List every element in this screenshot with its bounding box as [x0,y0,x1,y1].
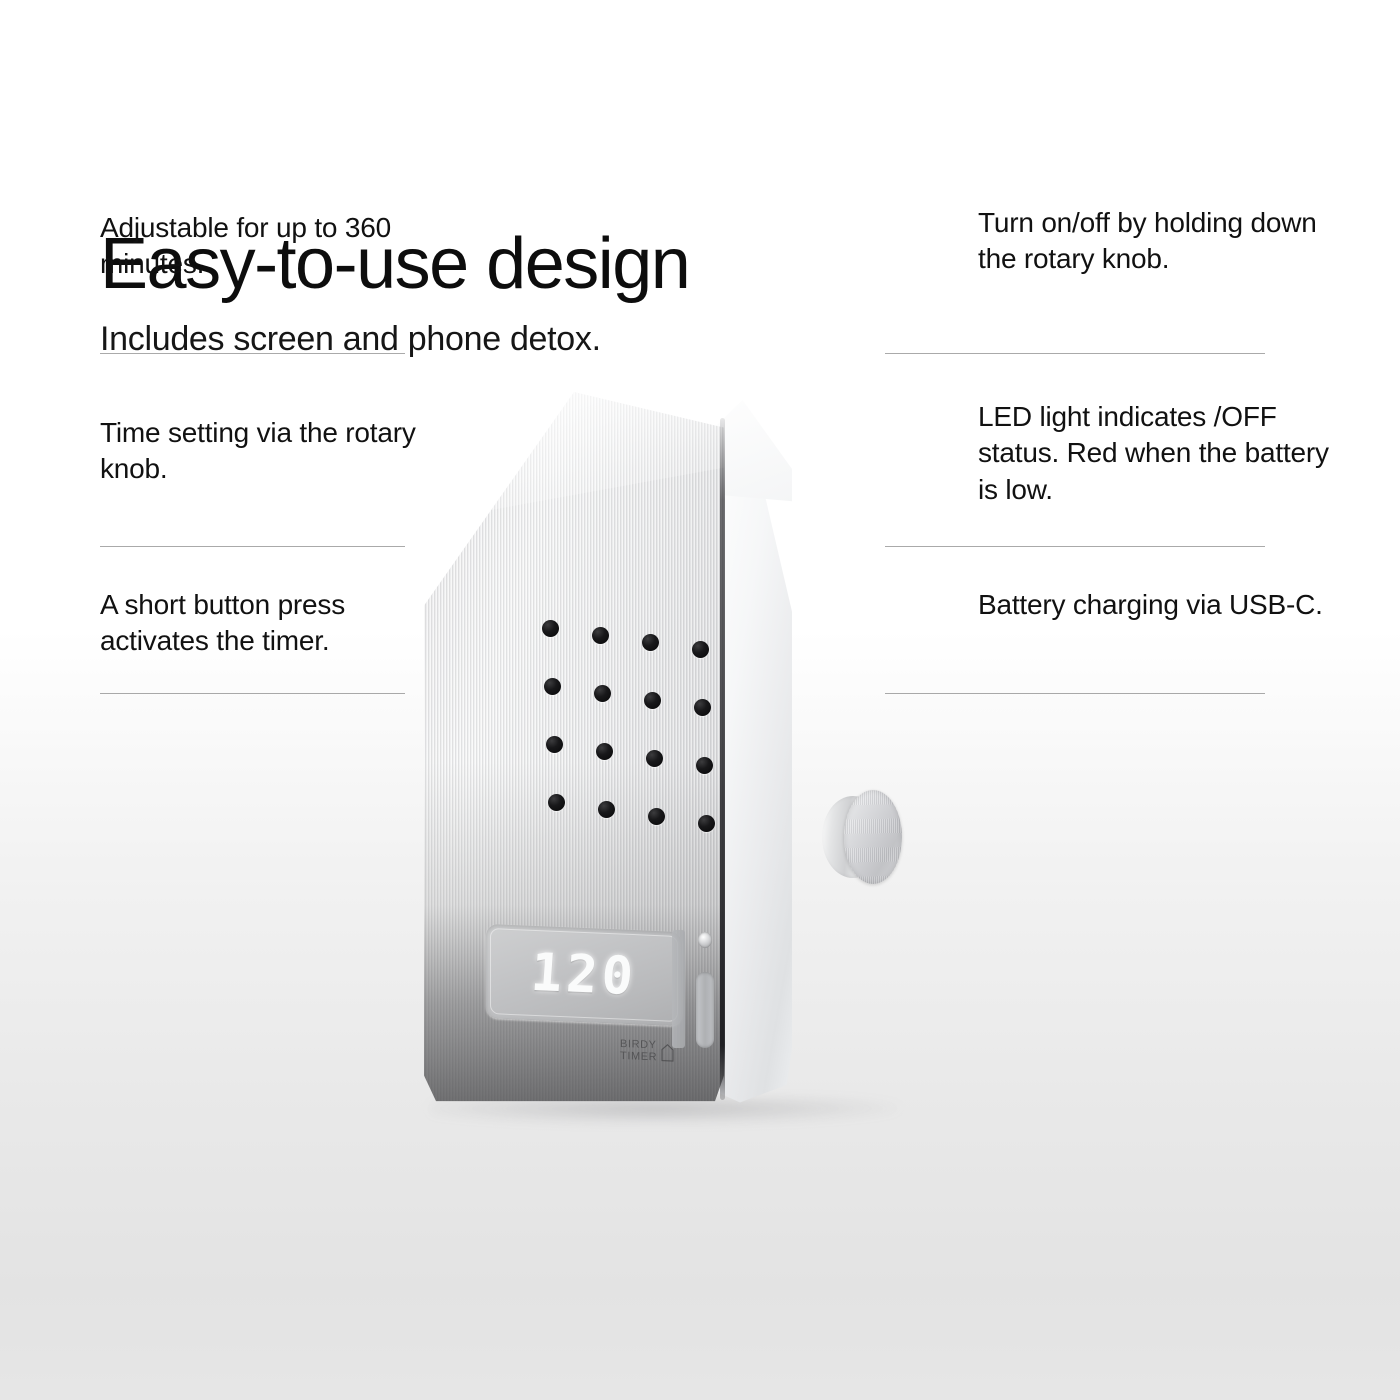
usb-c-port [696,972,714,1048]
speaker-hole [542,620,559,637]
feature-text: Turn on/off by holding down the rotary k… [978,205,1338,278]
side-vent-slot [672,930,685,1048]
feature-led-status: LED light indicates /OFF status. Red whe… [978,399,1338,508]
speaker-hole [592,627,609,644]
speaker-hole [696,757,713,774]
feature-adjustable-duration: Adjustable for up to 360 minutes. [100,210,430,283]
timer-value: 120 [529,943,639,1007]
speaker-hole [544,678,561,695]
divider-left-1 [100,353,405,354]
speaker-hole [692,641,709,658]
brand-logo-text: BIRDY TIMER [620,1039,657,1064]
rotary-knob[interactable] [822,790,904,884]
feature-text: LED light indicates /OFF status. Red whe… [978,399,1338,508]
rotary-knob-face [844,790,902,884]
speaker-hole [598,801,615,818]
led-indicator [698,932,712,948]
speaker-hole [646,750,663,767]
speaker-hole [648,808,665,825]
product-image-birdy-timer: 120 BIRDY TIMER [424,392,924,1112]
divider-right-1 [885,353,1265,354]
brand-line-2: TIMER [620,1051,657,1064]
speaker-hole [594,685,611,702]
feature-text: Battery charging via USB-C. [978,587,1338,623]
brand-logo: BIRDY TIMER [620,1039,674,1064]
feature-power-hold-knob: Turn on/off by holding down the rotary k… [978,205,1338,278]
divider-right-3 [885,693,1265,694]
divider-left-2 [100,546,405,547]
feature-short-press-timer: A short button press activates the timer… [100,587,430,660]
speaker-hole [694,699,711,716]
feature-time-setting-knob: Time setting via the rotary knob. [100,415,430,488]
speaker-hole [596,743,613,760]
feature-text: Adjustable for up to 360 minutes. [100,210,430,283]
feature-text: A short button press activates the timer… [100,587,430,660]
lcd-display: 120 [486,924,682,1026]
lcd-inner-bezel: 120 [490,928,678,1022]
divider-left-3 [100,693,405,694]
speaker-hole [548,794,565,811]
feature-text: Time setting via the rotary knob. [100,415,430,488]
divider-right-2 [885,546,1265,547]
speaker-hole [546,736,563,753]
speaker-hole [642,634,659,651]
feature-usb-c-charging: Battery charging via USB-C. [978,587,1338,623]
speaker-hole [644,692,661,709]
speaker-hole [698,815,715,832]
